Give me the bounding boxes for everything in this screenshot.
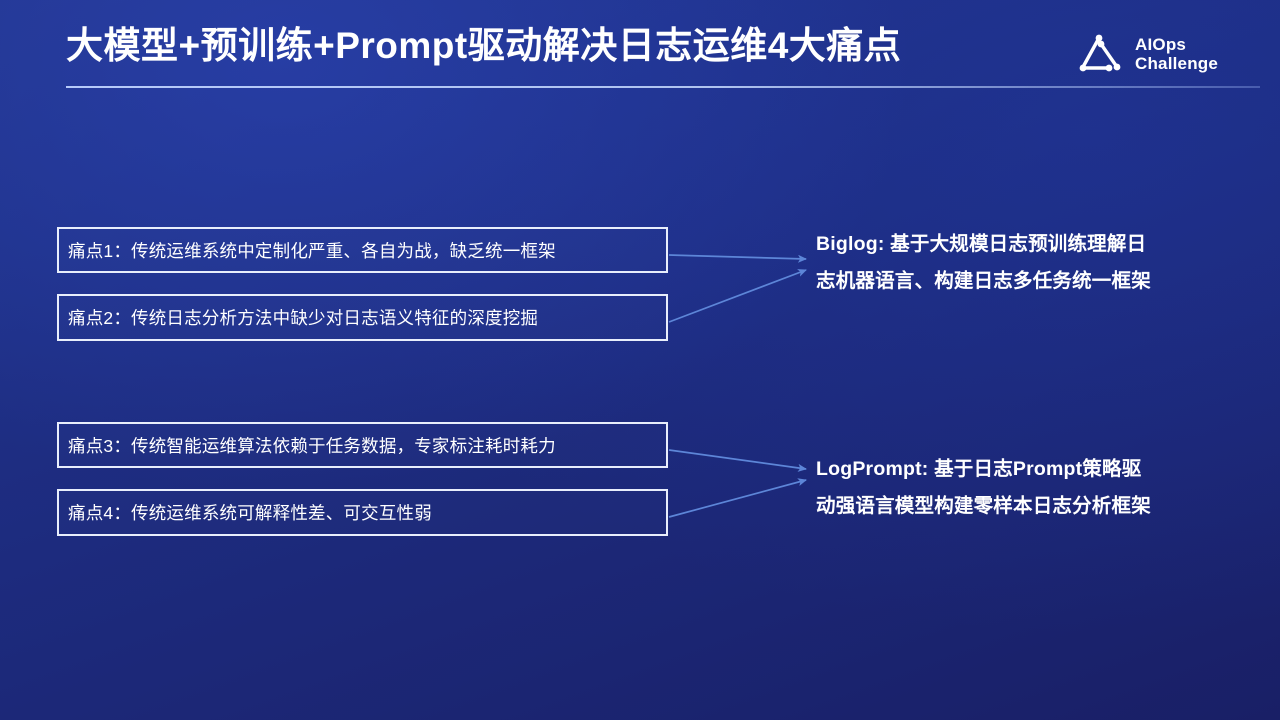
pain-point-label-1: 痛点1：传统运维系统中定制化严重、各自为战，缺乏统一框架	[59, 238, 556, 263]
aiops-challenge-logo: AIOps Challenge	[1076, 26, 1252, 82]
arrow-pain1-to-biglog	[669, 255, 806, 259]
solution-biglog-line-1: Biglog: 基于大规模日志预训练理解日	[816, 226, 1198, 263]
logo-line-1: AIOps	[1135, 35, 1218, 54]
arrow-connectors	[0, 0, 1280, 720]
pain-point-box-2: 痛点2：传统日志分析方法中缺少对日志语义特征的深度挖掘	[57, 294, 668, 341]
solution-biglog-line-2: 志机器语言、构建日志多任务统一框架	[816, 263, 1198, 300]
pain-point-box-4: 痛点4：传统运维系统可解释性差、可交互性弱	[57, 489, 668, 536]
pain-point-label-2: 痛点2：传统日志分析方法中缺少对日志语义特征的深度挖掘	[59, 305, 538, 330]
arrow-pain3-to-logprompt	[669, 450, 806, 469]
slide-header: 大模型+预训练+Prompt驱动解决日志运维4大痛点 AIOps	[0, 0, 1280, 96]
pain-point-label-3: 痛点3：传统智能运维算法依赖于任务数据，专家标注耗时耗力	[59, 433, 556, 458]
solution-biglog: Biglog: 基于大规模日志预训练理解日 志机器语言、构建日志多任务统一框架	[816, 226, 1198, 300]
aiops-triangle-network-logo-icon	[1076, 31, 1126, 77]
logo-line-2: Challenge	[1135, 54, 1218, 73]
page-title: 大模型+预训练+Prompt驱动解决日志运维4大痛点	[66, 24, 901, 68]
pain-point-box-1: 痛点1：传统运维系统中定制化严重、各自为战，缺乏统一框架	[57, 227, 668, 273]
title-divider	[66, 86, 1260, 88]
logo-wordmark: AIOps Challenge	[1135, 35, 1218, 73]
pain-point-label-4: 痛点4：传统运维系统可解释性差、可交互性弱	[59, 500, 432, 525]
arrow-pain4-to-logprompt	[669, 480, 806, 517]
arrow-pain2-to-biglog	[669, 270, 806, 322]
slide-root: 大模型+预训练+Prompt驱动解决日志运维4大痛点 AIOps	[0, 0, 1280, 720]
solution-logprompt-line-2: 动强语言模型构建零样本日志分析框架	[816, 488, 1198, 525]
solution-logprompt-line-1: LogPrompt: 基于日志Prompt策略驱	[816, 451, 1198, 488]
pain-point-box-3: 痛点3：传统智能运维算法依赖于任务数据，专家标注耗时耗力	[57, 422, 668, 468]
solution-logprompt: LogPrompt: 基于日志Prompt策略驱 动强语言模型构建零样本日志分析…	[816, 451, 1198, 525]
